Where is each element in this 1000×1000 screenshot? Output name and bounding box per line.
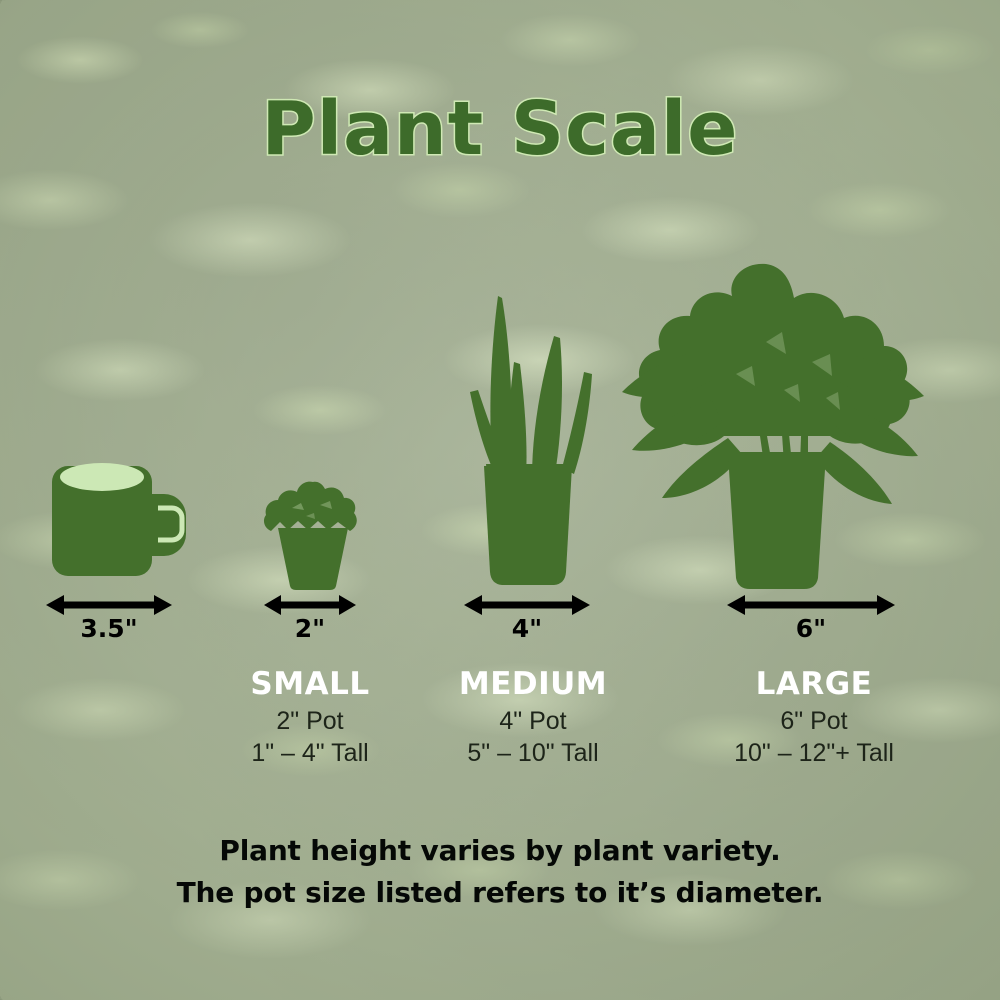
dimension-label-small: 2": [225, 614, 395, 643]
category-pot-large: 6" Pot: [664, 705, 964, 737]
small-plant-icon: [258, 478, 368, 590]
dimension-label-medium: 4": [442, 614, 612, 643]
dimension-label-mug: 3.5": [24, 614, 194, 643]
large-plant-icon: [616, 258, 932, 590]
plant-scale-infographic: Plant Scale: [0, 0, 1000, 1000]
medium-plant-icon: [462, 288, 594, 588]
category-block-large: LARGE 6" Pot 10" – 12"+ Tall: [664, 668, 964, 769]
coffee-mug-icon: [48, 450, 188, 590]
category-pot-medium: 4" Pot: [383, 705, 683, 737]
category-height-large: 10" – 12"+ Tall: [664, 737, 964, 769]
category-name-large: LARGE: [664, 668, 964, 701]
category-block-medium: MEDIUM 4" Pot 5" – 10" Tall: [383, 668, 683, 769]
category-name-medium: MEDIUM: [383, 668, 683, 701]
footer-note-line-2: The pot size listed refers to it’s diame…: [0, 872, 1000, 915]
footer-note-line-1: Plant height varies by plant variety.: [0, 830, 1000, 873]
dimension-label-large: 6": [726, 614, 896, 643]
category-height-medium: 5" – 10" Tall: [383, 737, 683, 769]
